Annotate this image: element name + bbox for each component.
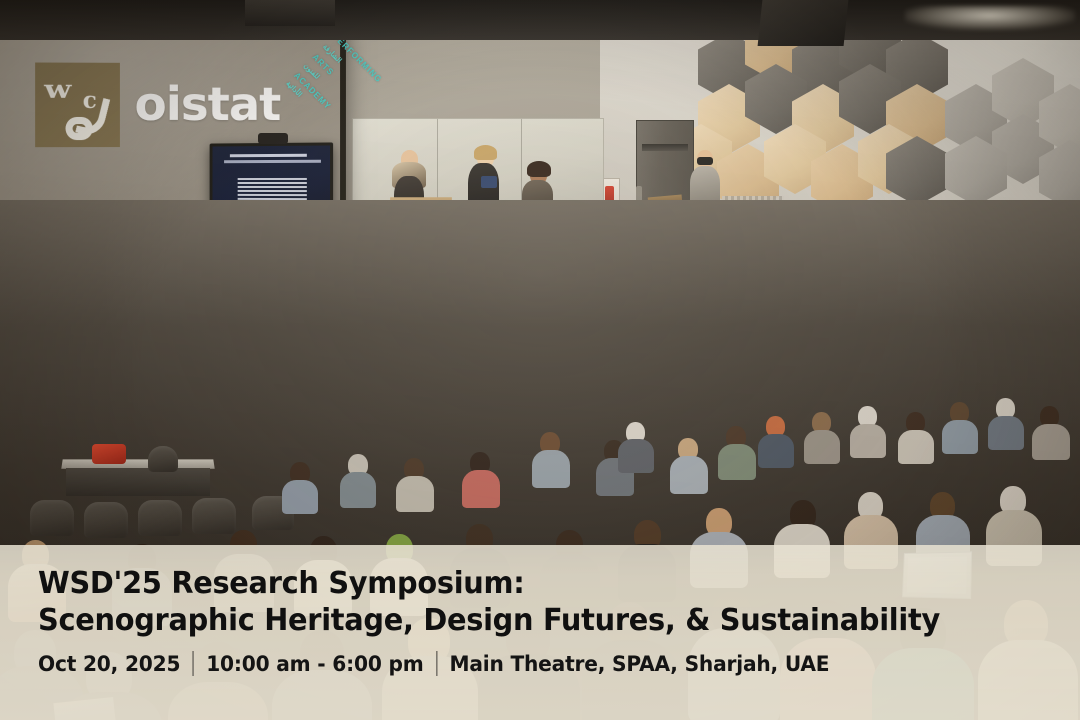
ceiling-speaker bbox=[758, 0, 849, 46]
meta-separator-2 bbox=[436, 651, 437, 676]
event-poster: w c oistat PERFORMING الشارقة ARTS للفنو… bbox=[0, 0, 1080, 720]
event-title-line-1: WSD'25 Research Symposium: bbox=[38, 565, 1015, 602]
door-vent bbox=[642, 144, 688, 151]
rear-table-legs bbox=[66, 468, 210, 496]
wsd-logo-loop bbox=[66, 117, 93, 140]
wsd-logo: w c bbox=[35, 63, 120, 148]
event-meta: Oct 20, 2025 10:00 am - 6:00 pm Main The… bbox=[38, 651, 1015, 676]
ceiling-vent bbox=[245, 0, 335, 26]
red-bag bbox=[92, 444, 126, 464]
meta-separator-1 bbox=[193, 651, 194, 676]
hexagon-acoustic-panels bbox=[690, 18, 1080, 208]
title-overlay-band: WSD'25 Research Symposium: Scenographic … bbox=[0, 545, 1080, 720]
event-time: 10:00 am - 6:00 pm bbox=[206, 652, 423, 676]
monitor-camera bbox=[258, 133, 288, 144]
ceiling-light bbox=[905, 6, 1075, 30]
event-venue: Main Theatre, SPAA, Sharjah, UAE bbox=[449, 652, 829, 676]
oistat-logo: oistat bbox=[135, 77, 281, 131]
event-title-line-2: Scenographic Heritage, Design Futures, &… bbox=[38, 602, 1015, 639]
event-date: Oct 20, 2025 bbox=[38, 652, 180, 676]
wsd-logo-letter-w: w bbox=[44, 75, 69, 105]
